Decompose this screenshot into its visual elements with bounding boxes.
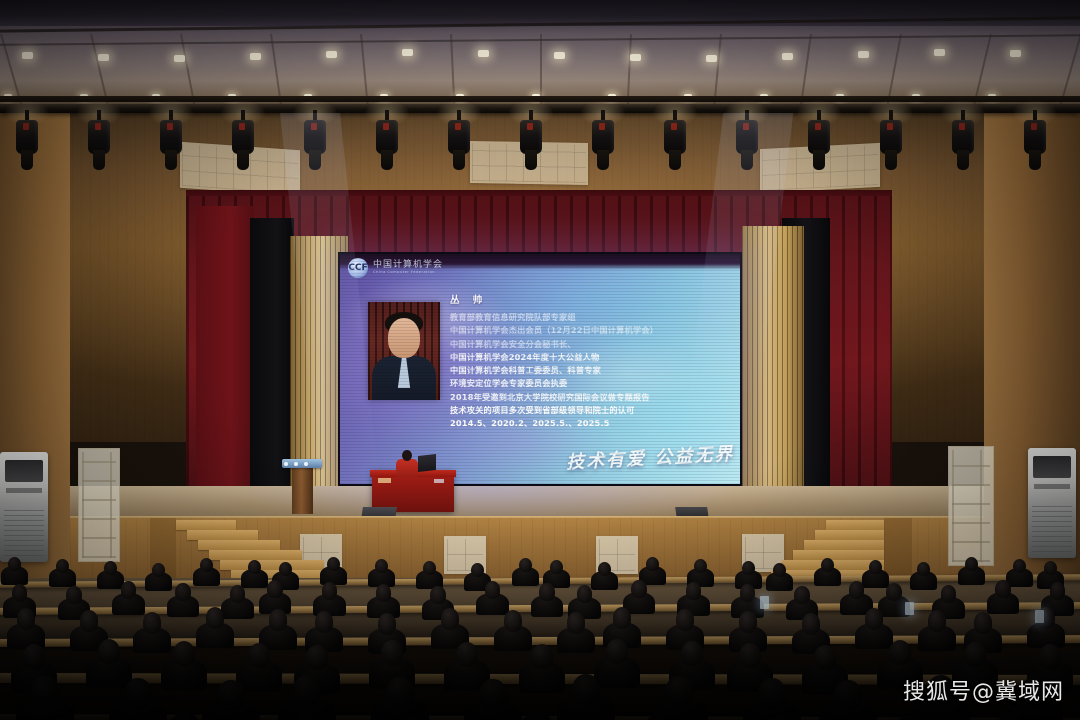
- audience-head: [376, 584, 392, 602]
- stage-spotlight: [232, 110, 254, 172]
- stage-spotlight: [1024, 110, 1046, 172]
- audience-head: [794, 586, 810, 604]
- stair-step: [804, 540, 884, 550]
- phone-screen-glow: [760, 596, 769, 609]
- ceiling-downlight: [554, 52, 565, 59]
- stage-spotlight: [16, 110, 38, 172]
- audience-head: [550, 560, 563, 575]
- ceiling-downlight: [250, 53, 261, 60]
- ceiling-downlight: [98, 54, 109, 61]
- right-air-conditioner: [1028, 448, 1076, 558]
- stage-spotlight: [952, 110, 974, 172]
- watermark: 搜狐号@冀域网: [903, 674, 1064, 706]
- ccf-name-en: China Computer Federation: [373, 271, 443, 275]
- audience-head: [175, 583, 191, 601]
- audience-head: [327, 557, 340, 572]
- audience-head: [56, 559, 69, 574]
- audience-head: [886, 583, 902, 601]
- ceiling-downlight: [174, 55, 185, 62]
- lectern-control-lights: [284, 462, 308, 466]
- ceiling-downlight: [706, 55, 717, 62]
- ceiling: [0, 0, 1080, 112]
- audience-head: [248, 560, 261, 575]
- stage-spotlight: [664, 110, 686, 172]
- ceiling-downlight: [326, 51, 337, 58]
- audience-head: [577, 585, 593, 603]
- slide-bullet: 教育部教育信息研究院队部专家组: [450, 311, 732, 324]
- audience-head: [742, 561, 755, 576]
- slide-bullet: 2018年受邀到北京大学院校研究国际会议做专题报告: [450, 391, 732, 404]
- slide-bullet: 环境安定位学会专家委员会执委: [450, 377, 732, 390]
- audience-head: [519, 558, 532, 573]
- audience-head: [267, 580, 283, 598]
- slide-bullet: 中国计算机学会2024年度十大公益人物: [450, 351, 732, 364]
- audience-head: [152, 563, 165, 578]
- left-black-masking-curtain: [250, 218, 294, 496]
- audience-head: [430, 586, 446, 604]
- audience-head: [821, 558, 834, 573]
- audience-head: [694, 559, 707, 574]
- audience-head: [8, 557, 21, 572]
- ccf-emblem-icon: CCF: [348, 258, 368, 278]
- phone-screen-glow: [905, 602, 914, 615]
- stair-step: [815, 530, 884, 540]
- audience-head: [995, 580, 1011, 598]
- left-red-curtain-leg: [196, 206, 254, 496]
- lectern-column: [292, 468, 313, 514]
- slide-bullet: 2014.5、2020.2、2025.5.、2025.5: [450, 417, 732, 430]
- stage-spotlight: [160, 110, 182, 172]
- ceiling-downlight: [630, 54, 641, 61]
- audience-head: [686, 582, 702, 600]
- right-wall-vent-grid: [948, 446, 994, 566]
- audience-head: [121, 581, 137, 599]
- audience-head: [471, 563, 484, 578]
- stage-spotlight: [880, 110, 902, 172]
- audience-head: [965, 557, 978, 572]
- stair-step: [187, 530, 258, 540]
- ceiling-downlight: [1010, 50, 1021, 57]
- stage-spotlight: [448, 110, 470, 172]
- desk-document: [434, 479, 444, 483]
- ceiling-downlight: [934, 49, 945, 56]
- slide-bullet: 技术攻关的项目多次受到省部级领导和院士的认可: [450, 404, 732, 417]
- audience-head: [485, 581, 501, 599]
- audience-head: [1050, 582, 1066, 600]
- audience-head: [279, 562, 292, 577]
- audience-head: [917, 562, 930, 577]
- slide-bullet: 中国计算机学会杰出会员（12月22日中国计算机学会）: [450, 324, 732, 337]
- speaker-portrait-photo: [368, 302, 440, 400]
- slide-bullet: 中国计算机学会安全分会秘书长、: [450, 338, 732, 351]
- ceiling-downlight: [402, 49, 413, 56]
- audience-head: [1044, 561, 1057, 576]
- desk-document: [378, 478, 391, 483]
- stair-step: [198, 540, 280, 550]
- stage-spotlight: [376, 110, 398, 172]
- stage-spotlight: [592, 110, 614, 172]
- left-wall-vent-grid: [78, 448, 120, 562]
- audience-head: [200, 558, 213, 573]
- audience-head: [322, 582, 338, 600]
- ccf-logo: CCF 中国计算机学会 China Computer Federation: [348, 258, 443, 278]
- ceiling-downlight: [22, 52, 33, 59]
- audience-head: [423, 561, 436, 576]
- audience-head: [1013, 559, 1026, 574]
- audience-head: [849, 581, 865, 599]
- ceiling-downlight: [782, 53, 793, 60]
- stage-spotlight: [520, 110, 542, 172]
- lectern-top: [282, 459, 322, 468]
- stage-spotlight: [808, 110, 830, 172]
- right-gold-backdrop-curtain: [742, 226, 804, 494]
- stage-spotlight: [736, 110, 758, 172]
- audience-head: [66, 586, 82, 604]
- laptop-on-desk: [418, 454, 436, 472]
- audience-head: [869, 560, 882, 575]
- audience-head: [941, 585, 957, 603]
- audience-head: [631, 580, 647, 598]
- stage-spotlight: [304, 110, 326, 172]
- ceiling-downlight: [858, 51, 869, 58]
- phone-screen-glow: [1035, 610, 1044, 623]
- auditorium-photo: CCF 中国计算机学会 China Computer Federation 丛 …: [0, 0, 1080, 720]
- stage-spotlight: [88, 110, 110, 172]
- slide-text-block: 丛 帅 教育部教育信息研究院队部专家组 中国计算机学会杰出会员（12月22日中国…: [450, 292, 732, 431]
- audience-head: [646, 557, 659, 572]
- stair-step: [826, 520, 884, 530]
- lectern[interactable]: [288, 459, 316, 514]
- audience-head: [539, 583, 555, 601]
- audience-head: [740, 584, 756, 602]
- slide-bullet: 中国计算机学会科普工委委员、科普专家: [450, 364, 732, 377]
- ceiling-downlight: [478, 50, 489, 57]
- left-air-conditioner: [0, 452, 48, 562]
- seated-presenter: [396, 450, 418, 476]
- audience-head: [12, 584, 28, 602]
- stair-step: [176, 520, 236, 530]
- audience-head: [375, 559, 388, 574]
- audience-head: [598, 562, 611, 577]
- audience-head: [773, 563, 786, 578]
- audience-head: [230, 585, 246, 603]
- slide-speaker-name: 丛 帅: [450, 292, 732, 306]
- audience-head: [104, 561, 117, 576]
